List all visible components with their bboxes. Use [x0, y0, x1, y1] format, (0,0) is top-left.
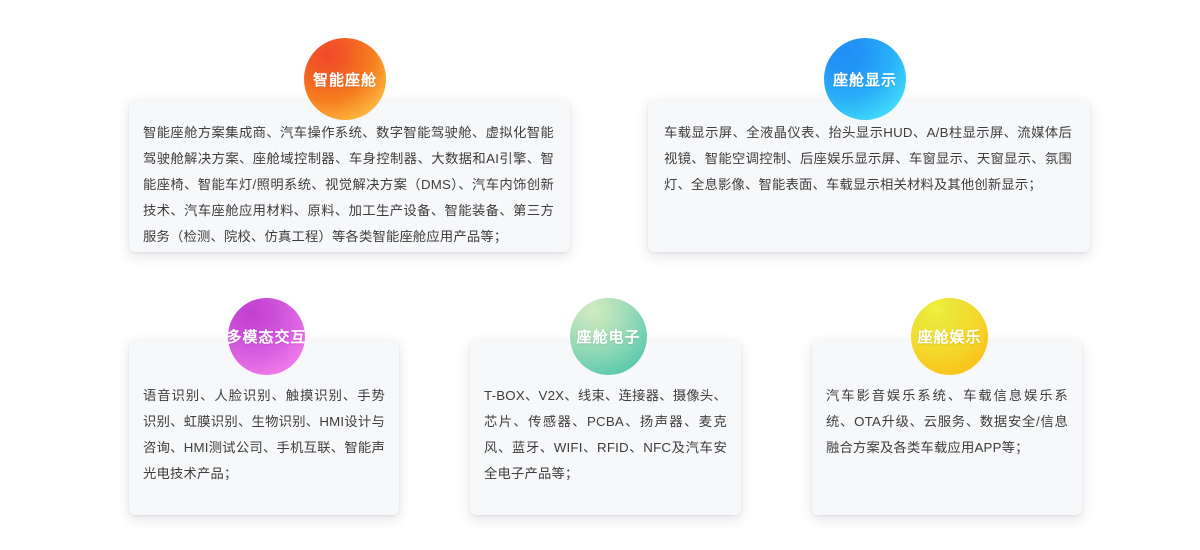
badge-multimodal[interactable]: 多模态交互 — [228, 298, 305, 375]
badge-label-cockpit-entertainment: 座舱娱乐 — [917, 326, 981, 347]
card-body-cockpit-display: 车载显示屏、全液晶仪表、抬头显示HUD、A/B柱显示屏、流媒体后视镜、智能空调控… — [664, 120, 1072, 198]
badge-smart-cockpit[interactable]: 智能座舱 — [304, 38, 386, 120]
card-cockpit-display[interactable]: 车载显示屏、全液晶仪表、抬头显示HUD、A/B柱显示屏、流媒体后视镜、智能空调控… — [648, 100, 1090, 252]
category-card-board: 智能座舱方案集成商、汽车操作系统、数字智能驾驶舱、虚拟化智能驾驶舱解决方案、座舱… — [0, 0, 1200, 550]
badge-cockpit-display[interactable]: 座舱显示 — [824, 38, 906, 120]
badge-label-cockpit-electronics: 座舱电子 — [576, 326, 640, 347]
card-body-cockpit-entertainment: 汽车影音娱乐系统、车载信息娱乐系统、OTA升级、云服务、数据安全/信息融合方案及… — [826, 383, 1068, 461]
badge-cockpit-electronics[interactable]: 座舱电子 — [570, 298, 647, 375]
card-body-cockpit-electronics: T-BOX、V2X、线束、连接器、摄像头、芯片、传感器、PCBA、扬声器、麦克风… — [484, 383, 727, 487]
badge-cockpit-entertainment[interactable]: 座舱娱乐 — [911, 298, 988, 375]
card-body-multimodal: 语音识别、人脸识别、触摸识别、手势识别、虹膜识别、生物识别、HMI设计与咨询、H… — [143, 383, 385, 487]
card-body-smart-cockpit: 智能座舱方案集成商、汽车操作系统、数字智能驾驶舱、虚拟化智能驾驶舱解决方案、座舱… — [143, 120, 554, 250]
badge-label-cockpit-display: 座舱显示 — [833, 69, 897, 90]
card-smart-cockpit[interactable]: 智能座舱方案集成商、汽车操作系统、数字智能驾驶舱、虚拟化智能驾驶舱解决方案、座舱… — [129, 100, 570, 252]
badge-label-multimodal: 多模态交互 — [227, 326, 307, 347]
badge-label-smart-cockpit: 智能座舱 — [313, 69, 377, 90]
